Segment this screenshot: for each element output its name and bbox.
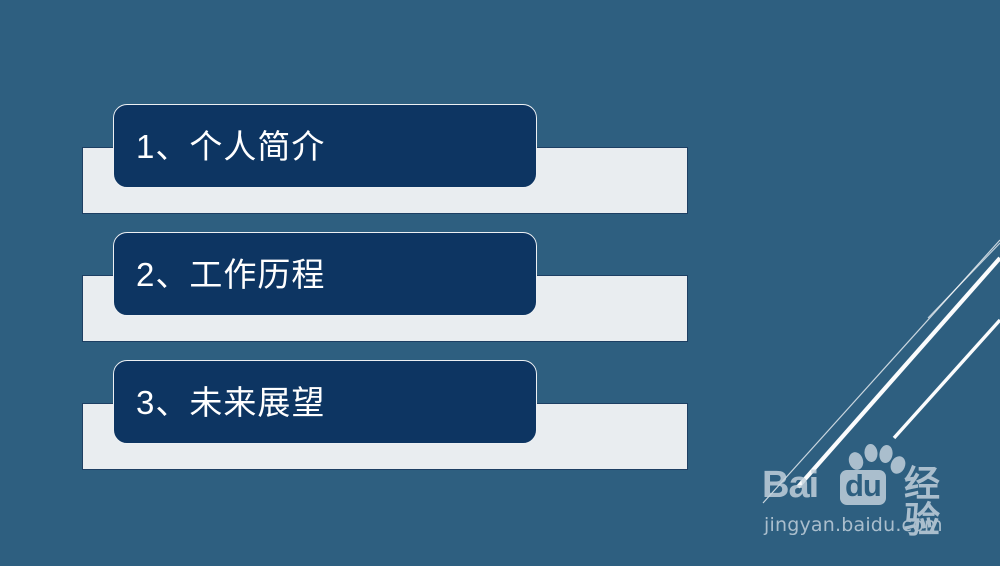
agenda-item-3-label: 3、未来展望 <box>136 386 325 419</box>
baidu-logo: Bai du 经验 <box>762 460 962 506</box>
agenda-item-1-label: 1、个人简介 <box>136 130 325 163</box>
baidu-wordmark-bai: Bai <box>762 466 818 504</box>
agenda-item-2-pill[interactable]: 2、工作历程 <box>113 232 537 316</box>
agenda-item-3-pill[interactable]: 3、未来展望 <box>113 360 537 444</box>
agenda-item-2-label: 2、工作历程 <box>136 258 325 291</box>
paw-print-icon <box>846 444 906 478</box>
agenda-item-1-pill[interactable]: 1、个人简介 <box>113 104 537 188</box>
baidu-jingyan-watermark: Bai du 经验 jingyan.baidu.com <box>762 460 962 540</box>
slide-canvas: 1、个人简介 2、工作历程 3、未来展望 Bai du <box>0 0 1000 566</box>
watermark-url: jingyan.baidu.com <box>764 514 943 536</box>
